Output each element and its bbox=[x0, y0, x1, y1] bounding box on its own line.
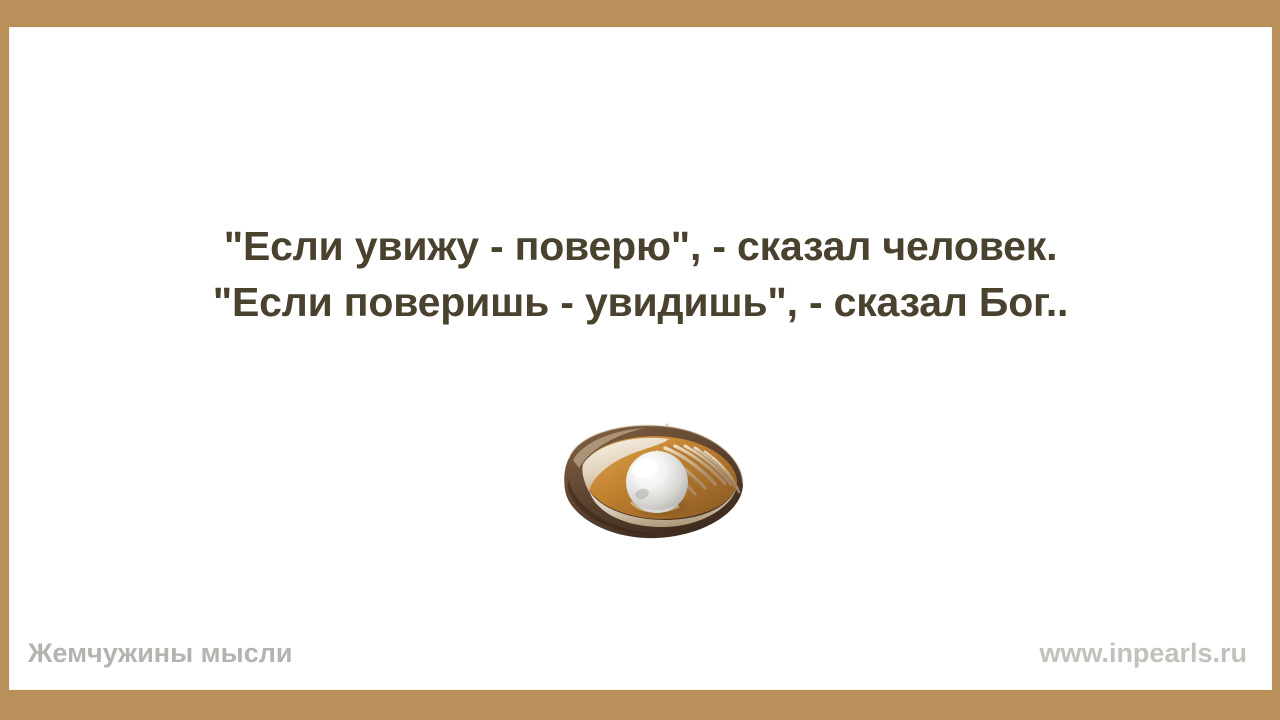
quote-line-1: "Если увижу - поверю", - сказал человек. bbox=[10, 218, 1271, 274]
quote-line-2: "Если поверишь - увидишь", - сказал Бог.… bbox=[10, 274, 1271, 330]
site-url-watermark: www.inpearls.ru bbox=[1039, 638, 1247, 668]
oyster-shell-with-pearl-icon bbox=[553, 420, 749, 542]
quote-card: "Если увижу - поверю", - сказал человек.… bbox=[0, 0, 1280, 720]
quote-text-block: "Если увижу - поверю", - сказал человек.… bbox=[10, 218, 1271, 330]
white-content-panel: "Если увижу - поверю", - сказал человек.… bbox=[10, 28, 1271, 689]
brand-watermark: Жемчужины мысли bbox=[28, 638, 292, 668]
